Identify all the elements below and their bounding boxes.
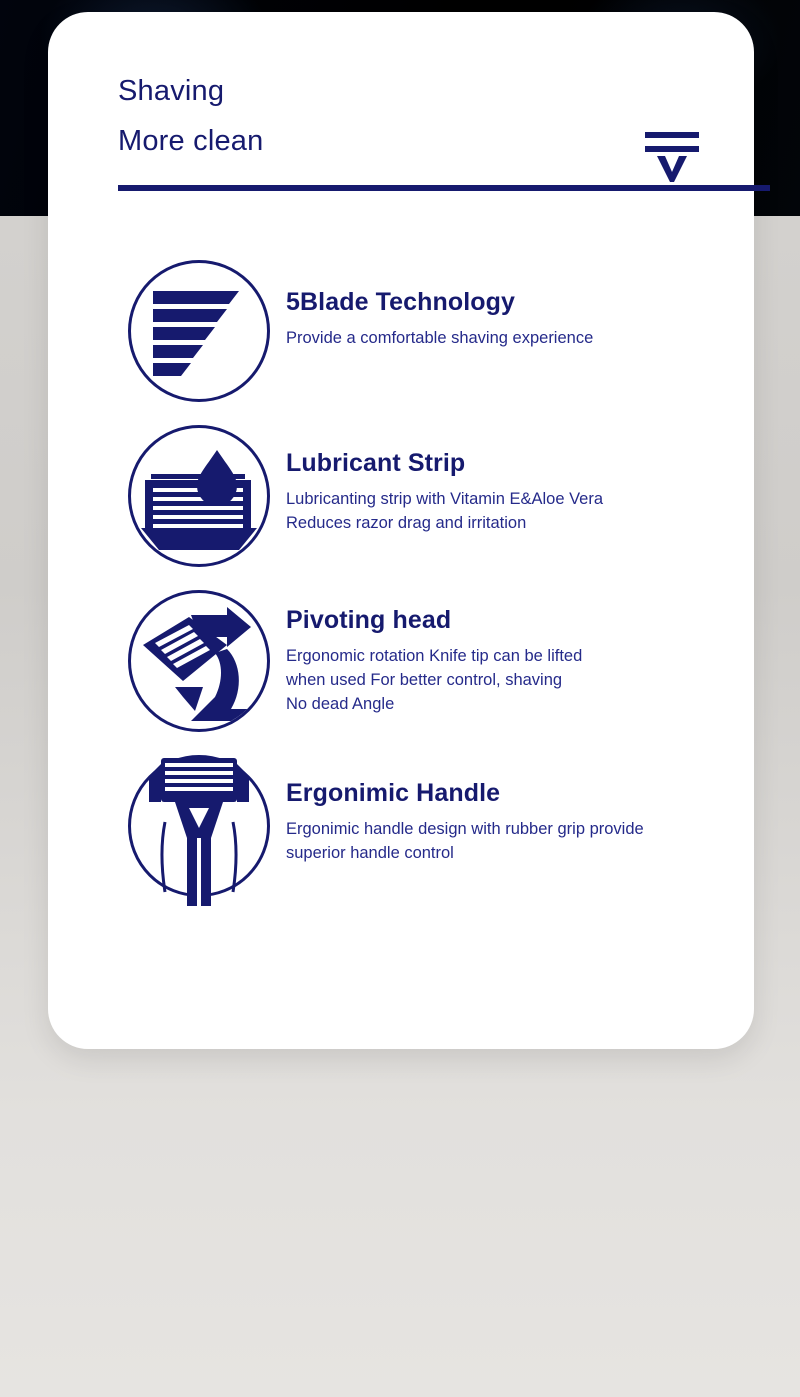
feature-title: Ergonimic Handle: [286, 779, 644, 808]
page-root: Shaving More clean: [0, 0, 800, 1397]
header-divider: [118, 185, 770, 191]
feature-item: Lubricant Strip Lubricanting strip with …: [48, 427, 754, 592]
feature-text: Lubricant Strip Lubricanting strip with …: [270, 427, 603, 535]
menu-chevron-down-icon[interactable]: [642, 124, 702, 186]
feature-desc-line: No dead Angle: [286, 692, 582, 716]
pivoting-razor-head-icon: [128, 590, 270, 732]
feature-title: 5Blade Technology: [286, 288, 593, 317]
feature-desc-line: Lubricanting strip with Vitamin E&Aloe V…: [286, 487, 603, 511]
content-card: Shaving More clean: [48, 12, 754, 1049]
feature-text: 5Blade Technology Provide a comfortable …: [270, 262, 593, 350]
feature-desc-line: Reduces razor drag and irritation: [286, 511, 603, 535]
feature-icon-wrap: [128, 425, 270, 567]
feature-desc-line: Provide a comfortable shaving experience: [286, 326, 593, 350]
menu-bar-bottom: [645, 146, 699, 152]
lubricant-strip-droplet-icon: [128, 425, 270, 567]
feature-icon-wrap: [128, 260, 270, 402]
feature-desc-line: Ergonimic handle design with rubber grip…: [286, 817, 644, 841]
card-header: Shaving More clean: [72, 52, 730, 192]
title-line-1: Shaving: [118, 66, 263, 116]
menu-bar-top: [645, 132, 699, 138]
feature-desc-line: when used For better control, shaving: [286, 668, 582, 692]
feature-title: Pivoting head: [286, 606, 582, 635]
feature-item: Pivoting head Ergonomic rotation Knife t…: [48, 592, 754, 757]
feature-icon-wrap: [128, 590, 270, 732]
feature-item: Ergonimic Handle Ergonimic handle design…: [48, 757, 754, 922]
feature-title: Lubricant Strip: [286, 449, 603, 478]
page-title: Shaving More clean: [118, 66, 263, 166]
ergonomic-razor-handle-icon: [128, 755, 270, 897]
chevron-down-icon: [657, 156, 687, 182]
title-line-2: More clean: [118, 116, 263, 166]
feature-icon-wrap: [128, 755, 270, 897]
feature-text: Pivoting head Ergonomic rotation Knife t…: [270, 592, 582, 716]
feature-desc-line: Ergonomic rotation Knife tip can be lift…: [286, 644, 582, 668]
feature-desc-line: superior handle control: [286, 841, 644, 865]
five-blade-stack-icon: [128, 260, 270, 402]
feature-text: Ergonimic Handle Ergonimic handle design…: [270, 757, 644, 865]
feature-list: 5Blade Technology Provide a comfortable …: [48, 262, 754, 922]
feature-item: 5Blade Technology Provide a comfortable …: [48, 262, 754, 427]
